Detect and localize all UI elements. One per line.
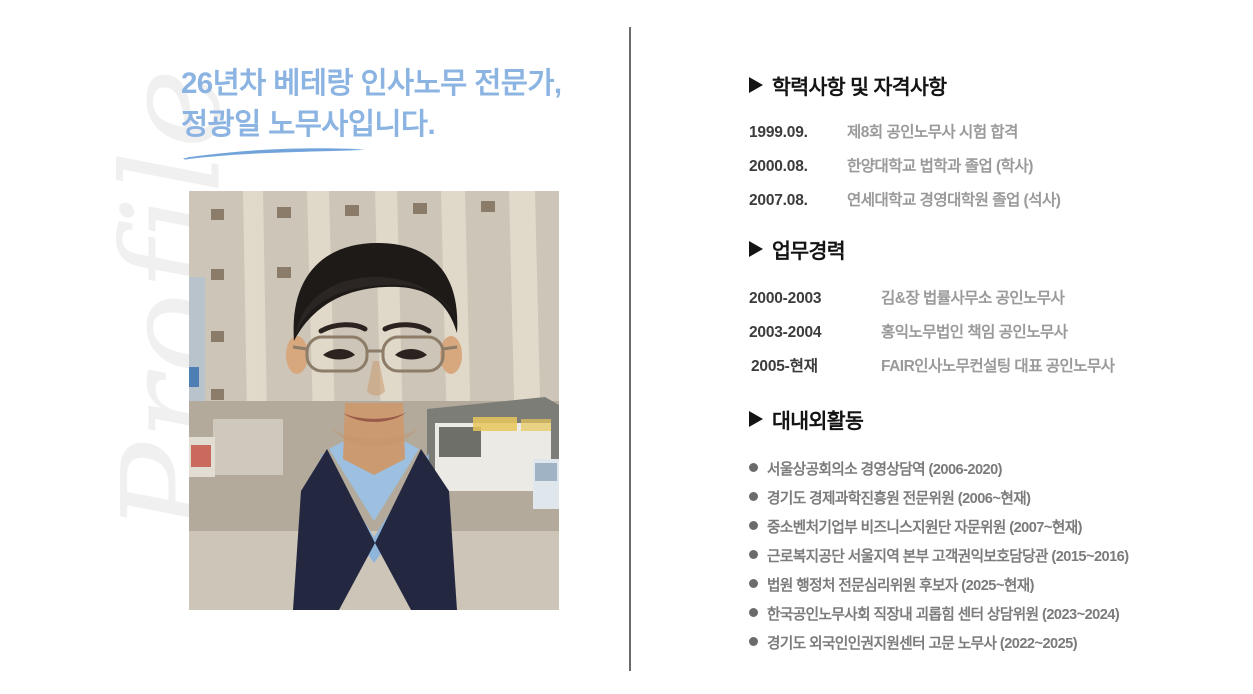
page-title-line-1: 26년차 베테랑 인사노무 전문가, bbox=[181, 64, 611, 105]
section-education-title: 학력사항 및 자격사항 bbox=[772, 70, 947, 100]
section-education-header: 학력사항 및 자격사항 bbox=[749, 70, 1060, 100]
activity-text: 서울상공회의소 경영상담역 (2006-2020) bbox=[767, 458, 1002, 479]
list-item: 근로복지공단 서울지역 본부 고객권익보호담당관 (2015~2016) bbox=[749, 545, 1129, 574]
career-period: 2000-2003 bbox=[749, 290, 859, 308]
career-detail: 홍익노무법인 책임 공인노무사 bbox=[881, 320, 1068, 342]
section-activities-title: 대내외활동 bbox=[772, 404, 863, 434]
triangle-marker-icon bbox=[749, 411, 763, 427]
profile-page: Profile 26년차 베테랑 인사노무 전문가, 정광일 노무사입니다. bbox=[0, 0, 1253, 694]
list-item: 법원 행정처 전문심리위원 후보자 (2025~현재) bbox=[749, 574, 1129, 603]
bullet-dot-icon bbox=[749, 608, 758, 617]
bullet-dot-icon bbox=[749, 521, 758, 530]
table-row: 2000.08. 한양대학교 법학과 졸업 (학사) bbox=[749, 154, 1060, 188]
bullet-dot-icon bbox=[749, 492, 758, 501]
table-row: 2005-현재 FAIR인사노무컨설팅 대표 공인노무사 bbox=[749, 354, 1115, 388]
education-detail: 한양대학교 법학과 졸업 (학사) bbox=[847, 154, 1033, 176]
page-title-line-2: 정광일 노무사입니다. bbox=[181, 105, 611, 146]
career-period: 2005-현재 bbox=[749, 354, 859, 376]
underline-swoosh-icon bbox=[181, 146, 367, 161]
activity-text: 중소벤처기업부 비즈니스지원단 자문위원 (2007~현재) bbox=[767, 516, 1082, 537]
section-career-header: 업무경력 bbox=[749, 234, 1115, 264]
section-activities-header: 대내외활동 bbox=[749, 404, 1129, 434]
career-period: 2003-2004 bbox=[749, 324, 859, 342]
section-career-title: 업무경력 bbox=[772, 234, 845, 264]
table-row: 2003-2004 홍익노무법인 책임 공인노무사 bbox=[749, 320, 1115, 354]
triangle-marker-icon bbox=[749, 241, 763, 257]
activity-text: 근로복지공단 서울지역 본부 고객권익보호담당관 (2015~2016) bbox=[767, 545, 1129, 566]
table-row: 1999.09. 제8회 공인노무사 시험 합격 bbox=[749, 120, 1060, 154]
education-date: 2007.08. bbox=[749, 192, 841, 210]
list-item: 경기도 경제과학진흥원 전문위원 (2006~현재) bbox=[749, 487, 1129, 516]
section-activities: 대내외활동 서울상공회의소 경영상담역 (2006-2020) 경기도 경제과학… bbox=[749, 404, 1129, 661]
left-column: 26년차 베테랑 인사노무 전문가, 정광일 노무사입니다. bbox=[0, 0, 629, 694]
bullet-dot-icon bbox=[749, 550, 758, 559]
bullet-dot-icon bbox=[749, 637, 758, 646]
page-title: 26년차 베테랑 인사노무 전문가, 정광일 노무사입니다. bbox=[181, 64, 611, 145]
portrait-photo bbox=[189, 191, 559, 610]
education-detail: 연세대학교 경영대학원 졸업 (석사) bbox=[847, 188, 1060, 210]
list-item: 한국공인노무사회 직장내 괴롭힘 센터 상담위원 (2023~2024) bbox=[749, 603, 1129, 632]
triangle-marker-icon bbox=[749, 77, 763, 93]
activity-text: 경기도 외국인인권지원센터 고문 노무사 (2022~2025) bbox=[767, 632, 1077, 653]
right-column: 학력사항 및 자격사항 1999.09. 제8회 공인노무사 시험 합격 200… bbox=[629, 0, 1253, 694]
activities-list: 서울상공회의소 경영상담역 (2006-2020) 경기도 경제과학진흥원 전문… bbox=[749, 458, 1129, 661]
bullet-dot-icon bbox=[749, 579, 758, 588]
career-detail: 김&장 법률사무소 공인노무사 bbox=[881, 286, 1064, 308]
list-item: 서울상공회의소 경영상담역 (2006-2020) bbox=[749, 458, 1129, 487]
education-date: 2000.08. bbox=[749, 158, 841, 176]
education-date: 1999.09. bbox=[749, 124, 841, 142]
section-career: 업무경력 2000-2003 김&장 법률사무소 공인노무사 2003-2004… bbox=[749, 234, 1115, 388]
activity-text: 법원 행정처 전문심리위원 후보자 (2025~현재) bbox=[767, 574, 1034, 595]
activity-text: 경기도 경제과학진흥원 전문위원 (2006~현재) bbox=[767, 487, 1030, 508]
activity-text: 한국공인노무사회 직장내 괴롭힘 센터 상담위원 (2023~2024) bbox=[767, 603, 1119, 624]
education-detail: 제8회 공인노무사 시험 합격 bbox=[847, 120, 1018, 142]
section-education: 학력사항 및 자격사항 1999.09. 제8회 공인노무사 시험 합격 200… bbox=[749, 70, 1060, 222]
list-item: 중소벤처기업부 비즈니스지원단 자문위원 (2007~현재) bbox=[749, 516, 1129, 545]
education-rows: 1999.09. 제8회 공인노무사 시험 합격 2000.08. 한양대학교 … bbox=[749, 120, 1060, 222]
table-row: 2007.08. 연세대학교 경영대학원 졸업 (석사) bbox=[749, 188, 1060, 222]
career-rows: 2000-2003 김&장 법률사무소 공인노무사 2003-2004 홍익노무… bbox=[749, 286, 1115, 388]
table-row: 2000-2003 김&장 법률사무소 공인노무사 bbox=[749, 286, 1115, 320]
list-item: 경기도 외국인인권지원센터 고문 노무사 (2022~2025) bbox=[749, 632, 1129, 661]
bullet-dot-icon bbox=[749, 463, 758, 472]
career-detail: FAIR인사노무컨설팅 대표 공인노무사 bbox=[881, 354, 1115, 376]
